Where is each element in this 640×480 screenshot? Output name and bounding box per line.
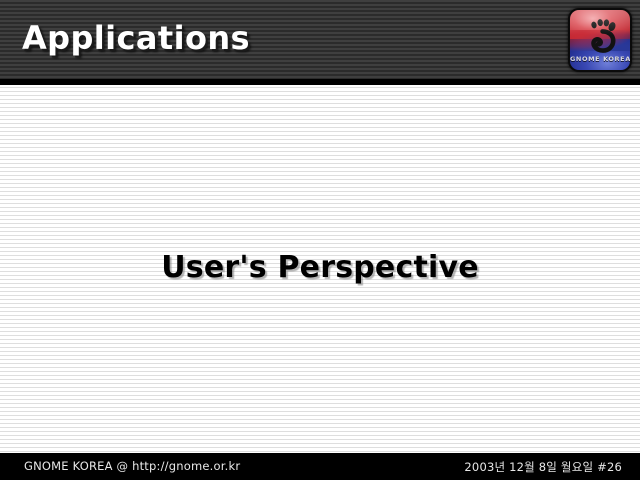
- footer-date-and-slide-number: 2003년 12월 8일 월요일 #26: [464, 459, 622, 475]
- slide-footer: GNOME KOREA @ http://gnome.or.kr 2003년 1…: [0, 453, 640, 480]
- gnome-foot-icon: [587, 18, 617, 56]
- footer-attribution: GNOME KOREA @ http://gnome.or.kr: [24, 459, 240, 473]
- slide-header-title: Applications: [22, 19, 250, 57]
- presentation-slide: Applications GNOME KOREA User's Perspect…: [0, 0, 640, 480]
- slide-body: User's Perspective: [0, 85, 640, 453]
- slide-content-title: User's Perspective: [0, 250, 640, 285]
- gnome-korea-logo: GNOME KOREA: [568, 8, 632, 72]
- logo-caption: GNOME KOREA: [570, 55, 630, 63]
- slide-header: Applications GNOME KOREA: [0, 0, 640, 79]
